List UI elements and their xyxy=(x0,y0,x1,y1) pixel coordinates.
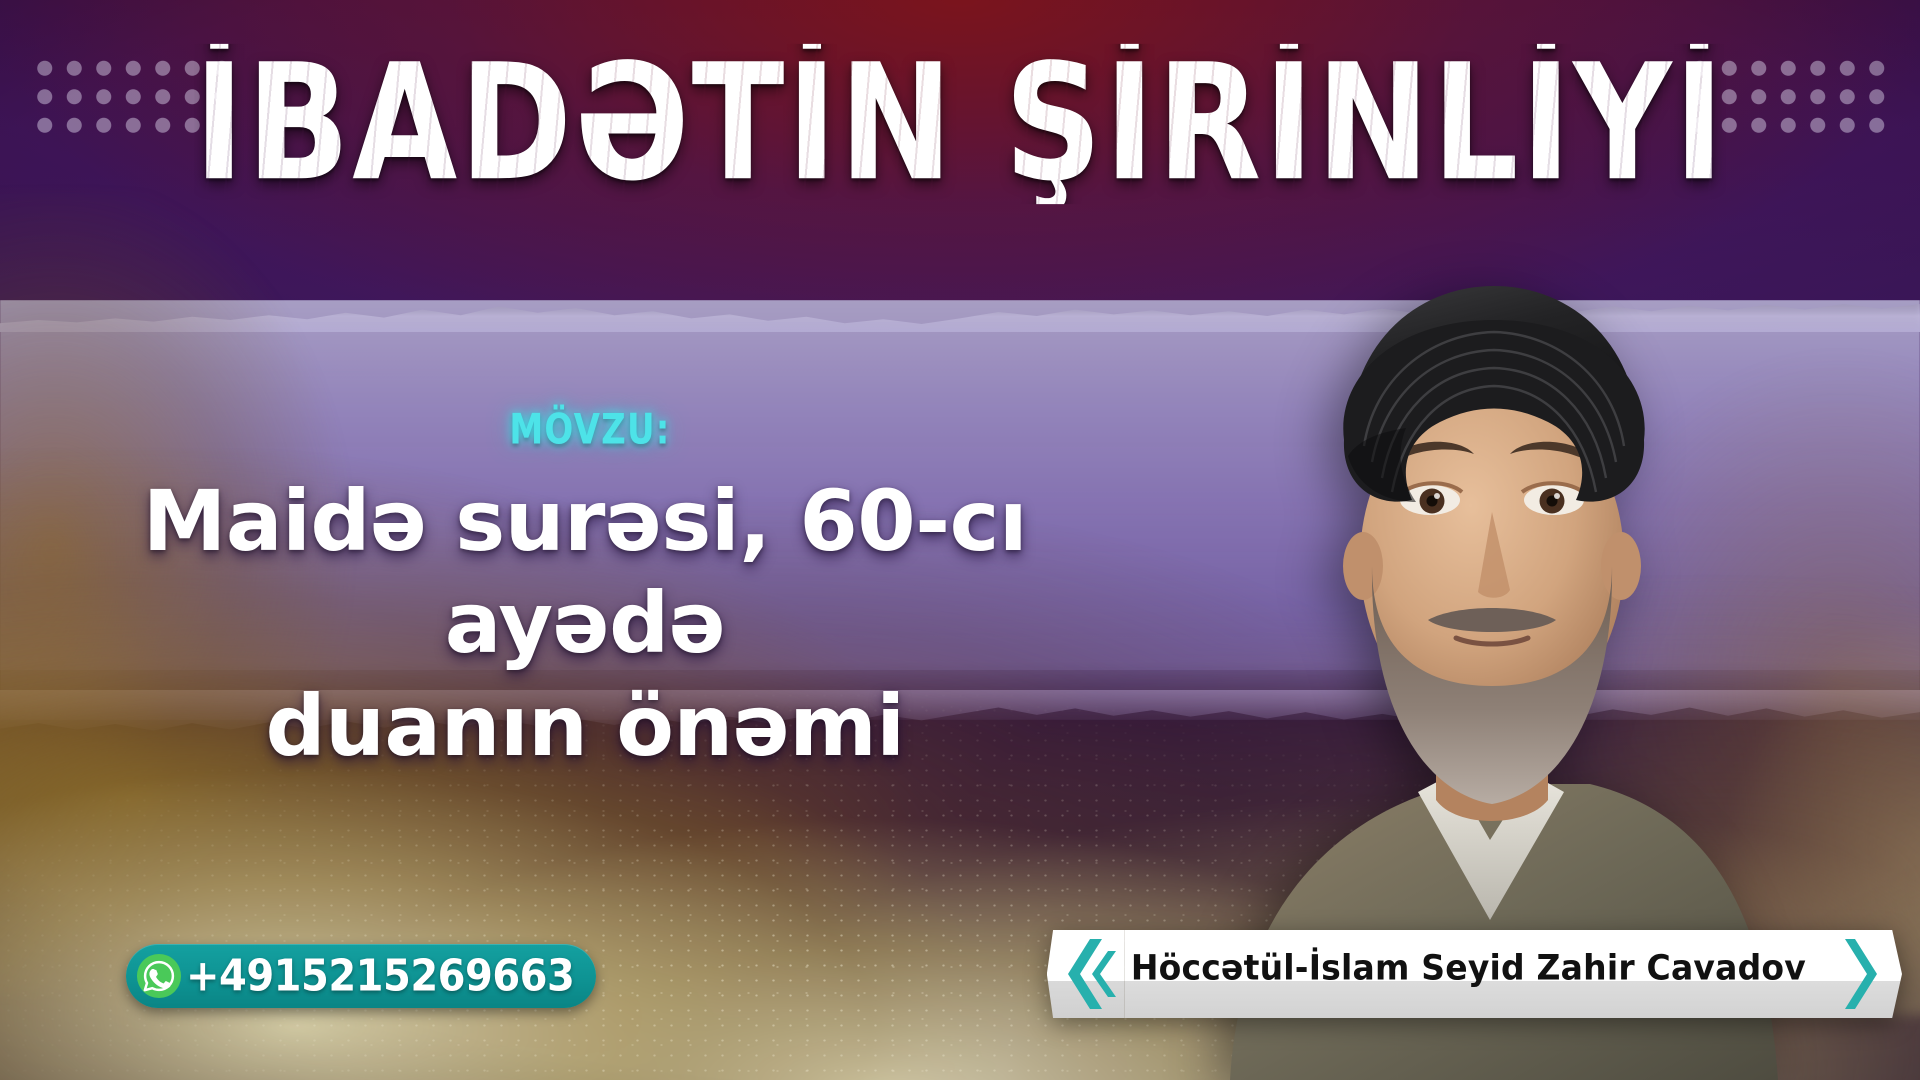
whatsapp-icon xyxy=(136,953,182,999)
banner-left-chevron xyxy=(1047,930,1125,1018)
topic-text: Maidə surəsi, 60-cı ayədə duanın önəmi xyxy=(0,470,1170,777)
page-title: İBADƏTİN ŞİRİNLİYİ xyxy=(194,44,1726,204)
chevron-left-icon xyxy=(1047,930,1125,1018)
banner-right-chevron xyxy=(1832,930,1902,1018)
speaker-name-banner: Höccətül-İslam Seyid Zahir Cavadov xyxy=(1047,930,1902,1018)
poster-title-container: İBADƏTİN ŞİRİNLİYİ xyxy=(0,56,1920,192)
topic-line-2: duanın önəmi xyxy=(0,675,1170,777)
whatsapp-contact-badge[interactable]: +4915215269663 xyxy=(126,944,596,1008)
chevron-right-icon xyxy=(1832,930,1902,1018)
phone-number: +4915215269663 xyxy=(186,951,574,1002)
banner-body: Höccətül-İslam Seyid Zahir Cavadov xyxy=(1125,930,1832,1018)
topic-label: MÖVZU: xyxy=(0,406,1180,455)
poster-canvas: İBADƏTİN ŞİRİNLİYİ MÖVZU: Maidə surəsi, … xyxy=(0,0,1920,1080)
topic-line-1: Maidə surəsi, 60-cı ayədə xyxy=(0,470,1170,675)
speaker-name: Höccətül-İslam Seyid Zahir Cavadov xyxy=(1131,946,1806,987)
